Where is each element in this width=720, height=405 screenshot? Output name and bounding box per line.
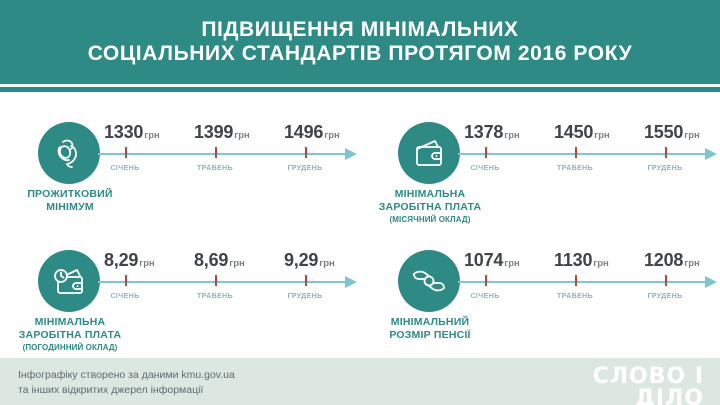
timeline-arrow-icon xyxy=(345,148,357,160)
timeline-tick xyxy=(215,147,217,158)
block-sublabel: (ПОГОДИННИЙ ОКЛАД) xyxy=(0,343,140,353)
footer-source-text: Інфографіку створено за даними kmu.gov.u… xyxy=(18,368,235,398)
brand-logo-text: СЛОВО І ДІЛО xyxy=(544,366,704,405)
point-month: СІЧЕНЬ xyxy=(455,293,515,300)
point-value: 1330грн xyxy=(104,122,160,143)
timeline-tick xyxy=(665,275,667,286)
wallet-clock-icon xyxy=(38,250,100,312)
point-number: 1130 xyxy=(554,250,592,270)
timeline-tick xyxy=(485,275,487,286)
point-value: 1208грн xyxy=(644,250,700,271)
footer-bar: Інфографіку створено за даними kmu.gov.u… xyxy=(0,358,720,405)
point-number: 1496 xyxy=(284,122,323,142)
point-value: 1450грн xyxy=(554,122,610,143)
footer-source-line-1: Інфографіку створено за даними kmu.gov.u… xyxy=(18,368,235,383)
header-divider-white xyxy=(0,92,720,96)
point-month: ТРАВЕНЬ xyxy=(545,293,605,300)
block-label-line-1: МІНІМАЛЬНА xyxy=(395,188,466,200)
block-living-wage: ПРОЖИТКОВИЙ МІНІМУМ 1330грн 1399грн 1496… xyxy=(0,104,360,232)
point-unit: грн xyxy=(319,258,335,269)
timeline-tick xyxy=(125,275,127,286)
point-value: 8,69грн xyxy=(194,250,245,271)
point-unit: грн xyxy=(229,258,245,269)
point-month: ТРАВЕНЬ xyxy=(185,293,245,300)
point-unit: грн xyxy=(504,130,520,141)
block-label-line-2: РОЗМІР ПЕНСІЇ xyxy=(389,329,470,341)
block-label-line-1: МІНІМАЛЬНА xyxy=(35,316,106,328)
point-month: ГРУДЕНЬ xyxy=(275,293,335,300)
point-number: 9,29 xyxy=(284,250,318,270)
timeline-tick xyxy=(485,147,487,158)
timeline-arrow-icon xyxy=(705,148,717,160)
point-number: 8,29 xyxy=(104,250,138,270)
timeline-arrow-icon xyxy=(705,276,717,288)
timeline-tick xyxy=(575,275,577,286)
point-number: 1330 xyxy=(104,122,143,142)
point-month: ГРУДЕНЬ xyxy=(635,293,695,300)
point-value: 1496грн xyxy=(284,122,340,143)
timeline-axis xyxy=(458,153,706,155)
block-label-line-2: МІНІМУМ xyxy=(46,201,94,213)
point-value: 8,29грн xyxy=(104,250,155,271)
timeline-arrow-icon xyxy=(345,276,357,288)
timeline-axis xyxy=(98,153,346,155)
hands-holding-coin-icon xyxy=(398,250,460,312)
point-number: 1378 xyxy=(464,122,503,142)
block-label-minimum-wage-hourly: МІНІМАЛЬНА ЗАРОБІТНА ПЛАТА (ПОГОДИННИЙ О… xyxy=(0,316,140,352)
point-month: ТРАВЕНЬ xyxy=(545,165,605,172)
point-value: 9,29грн xyxy=(284,250,335,271)
point-value: 1399грн xyxy=(194,122,250,143)
header-banner: ПІДВИЩЕННЯ МІНІМАЛЬНИХ СОЦІАЛЬНИХ СТАНДА… xyxy=(0,0,720,84)
point-unit: грн xyxy=(684,258,700,269)
block-label-line-2: ЗАРОБІТНА ПЛАТА xyxy=(19,329,121,341)
timeline-tick xyxy=(305,147,307,158)
timeline-tick xyxy=(575,147,577,158)
block-minimum-wage-monthly: МІНІМАЛЬНА ЗАРОБІТНА ПЛАТА (МІСЯЧНИЙ ОКЛ… xyxy=(360,104,720,232)
point-unit: грн xyxy=(324,130,340,141)
point-unit: грн xyxy=(504,258,520,269)
infographic-page: ПІДВИЩЕННЯ МІНІМАЛЬНИХ СОЦІАЛЬНИХ СТАНДА… xyxy=(0,0,720,405)
point-number: 1074 xyxy=(464,250,503,270)
timeline-tick xyxy=(125,147,127,158)
wallet-icon xyxy=(398,122,460,184)
timeline-tick xyxy=(215,275,217,286)
header-title-line-2: СОЦІАЛЬНИХ СТАНДАРТІВ ПРОТЯГОМ 2016 РОКУ xyxy=(88,42,633,66)
hand-holding-coin-icon xyxy=(38,122,100,184)
block-sublabel: (МІСЯЧНИЙ ОКЛАД) xyxy=(360,215,500,225)
header-title-line-1: ПІДВИЩЕННЯ МІНІМАЛЬНИХ xyxy=(201,18,518,42)
point-month: СІЧЕНЬ xyxy=(95,165,155,172)
point-number: 1450 xyxy=(554,122,593,142)
point-value: 1130грн xyxy=(554,250,609,271)
block-label-line-1: МІНІМАЛЬНИЙ xyxy=(391,316,469,328)
timeline-tick xyxy=(305,275,307,286)
timeline-axis xyxy=(98,281,346,283)
point-unit: грн xyxy=(593,258,609,269)
block-label-minimum-wage-monthly: МІНІМАЛЬНА ЗАРОБІТНА ПЛАТА (МІСЯЧНИЙ ОКЛ… xyxy=(360,188,500,224)
timeline-tick xyxy=(665,147,667,158)
point-unit: грн xyxy=(684,130,700,141)
point-value: 1550грн xyxy=(644,122,700,143)
point-number: 1399 xyxy=(194,122,233,142)
point-month: ГРУДЕНЬ xyxy=(635,165,695,172)
point-number: 1208 xyxy=(644,250,683,270)
point-unit: грн xyxy=(594,130,610,141)
point-unit: грн xyxy=(139,258,155,269)
timeline-axis xyxy=(458,281,706,283)
point-value: 1074грн xyxy=(464,250,520,271)
block-label-line-2: ЗАРОБІТНА ПЛАТА xyxy=(379,201,481,213)
point-number: 1550 xyxy=(644,122,683,142)
block-label-minimum-pension: МІНІМАЛЬНИЙ РОЗМІР ПЕНСІЇ xyxy=(360,316,500,342)
block-minimum-wage-hourly: МІНІМАЛЬНА ЗАРОБІТНА ПЛАТА (ПОГОДИННИЙ О… xyxy=(0,232,360,360)
footer-source-line-2: та інших відкритих джерел інформації xyxy=(18,383,235,398)
block-minimum-pension: МІНІМАЛЬНИЙ РОЗМІР ПЕНСІЇ 1074грн 1130гр… xyxy=(360,232,720,360)
block-label-living-wage: ПРОЖИТКОВИЙ МІНІМУМ xyxy=(0,188,140,214)
point-unit: грн xyxy=(144,130,160,141)
block-label-line-1: ПРОЖИТКОВИЙ xyxy=(27,188,112,200)
point-month: СІЧЕНЬ xyxy=(95,293,155,300)
point-number: 8,69 xyxy=(194,250,228,270)
point-value: 1378грн xyxy=(464,122,520,143)
point-month: СІЧЕНЬ xyxy=(455,165,515,172)
point-month: ТРАВЕНЬ xyxy=(185,165,245,172)
point-unit: грн xyxy=(234,130,250,141)
point-month: ГРУДЕНЬ xyxy=(275,165,335,172)
brand-logo[interactable]: СЛОВО І ДІЛО xyxy=(544,366,704,405)
